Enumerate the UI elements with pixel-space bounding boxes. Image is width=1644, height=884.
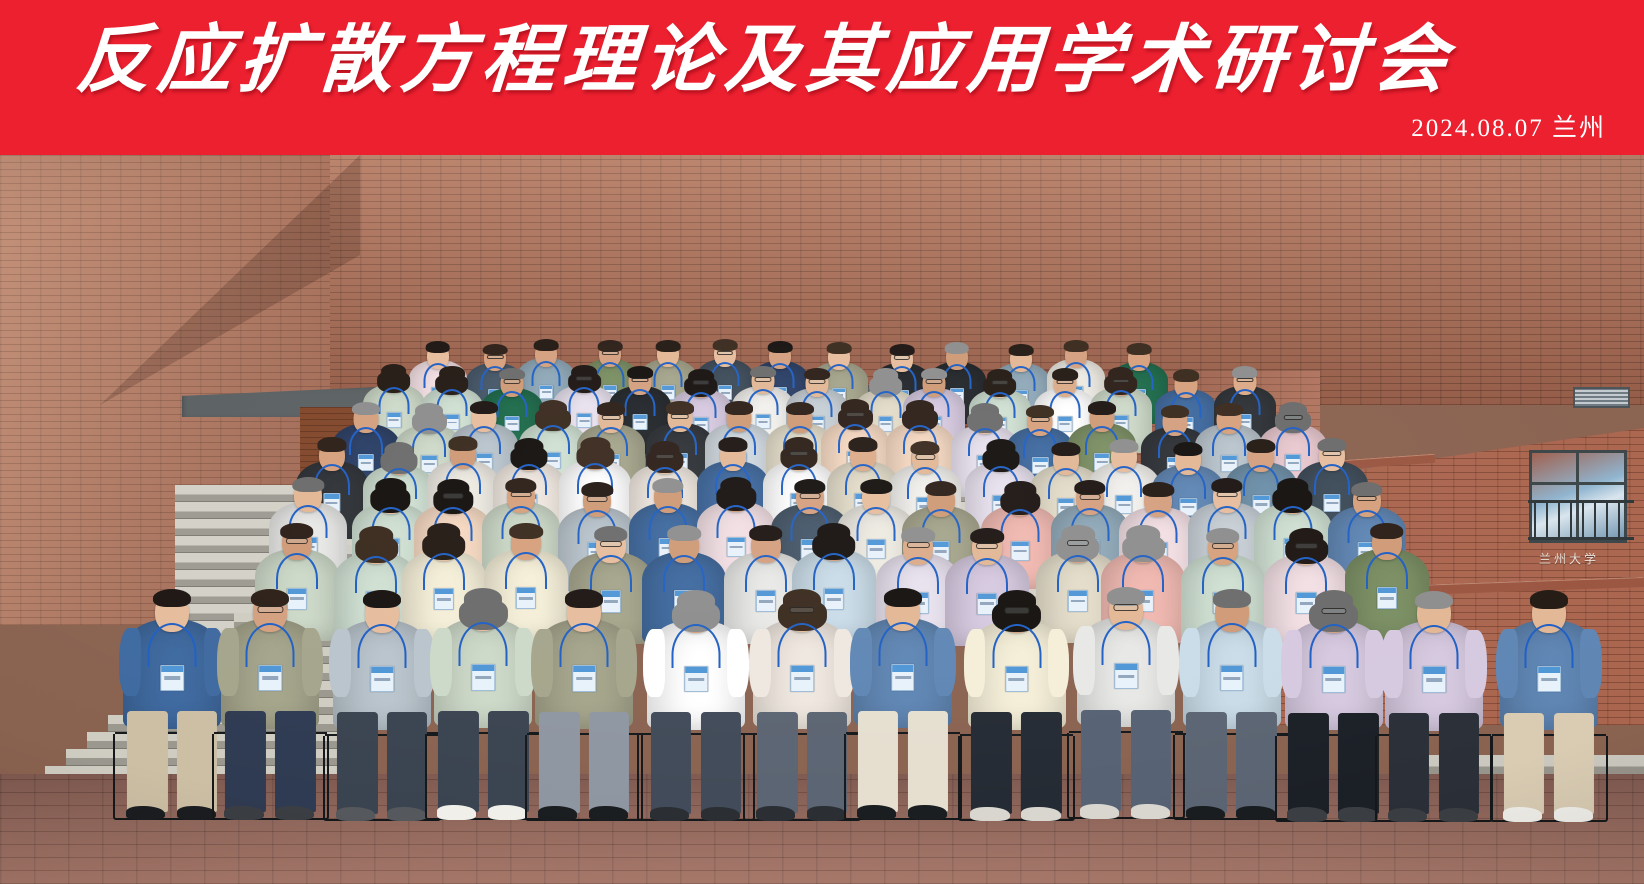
title-banner: 反应扩散方程理论及其应用学术研讨会 2024.08.07 兰州 (0, 0, 1644, 155)
attendee-glasses (800, 493, 821, 499)
attendee-shoe (1236, 806, 1275, 820)
attendee-shoe (387, 807, 426, 821)
attendee-shoe (589, 806, 628, 820)
attendee-hair (470, 401, 498, 414)
attendee-hair (594, 526, 628, 542)
attendee-hair (598, 340, 623, 352)
attendee-hair (750, 366, 776, 378)
attendee (1285, 588, 1383, 848)
attendee-hair (515, 438, 544, 454)
attendee-hair (1005, 481, 1036, 498)
attendee-legs (125, 711, 219, 812)
attendee-leg (337, 712, 377, 813)
attendee-leg (1081, 710, 1121, 811)
attendee-glasses (991, 380, 1008, 385)
attendee-leg (1288, 713, 1328, 814)
attendee-hair (817, 523, 851, 541)
attendee-hair (280, 523, 314, 539)
banner-date-location: 2024.08.07 兰州 (1411, 108, 1606, 144)
attendee-arm (329, 629, 351, 697)
attendee-glasses (1323, 451, 1342, 456)
attendee-glasses (790, 607, 815, 614)
attendee-arm (727, 629, 749, 697)
attendee-hair (1213, 589, 1251, 607)
attendee-hair (1211, 478, 1242, 493)
attendee-shoe (1338, 807, 1377, 821)
attendee-arm (1496, 629, 1518, 697)
attendee-hair (986, 439, 1015, 455)
attendee-hair (1088, 401, 1116, 414)
attendee (1500, 587, 1598, 847)
attendee-glasses (1080, 494, 1101, 500)
attendee-glasses (1212, 543, 1234, 549)
conference-group-photo-poster: 反应扩散方程理论及其应用学术研讨会 2024.08.07 兰州 兰州大学兰州大学… (0, 0, 1644, 884)
attendee-shoe (756, 806, 795, 820)
attendee-name-badge (791, 665, 815, 691)
attendee-name-badge (684, 666, 708, 692)
attendee-hair (652, 478, 683, 493)
attendee-arm (430, 628, 452, 696)
attendee-hair (666, 401, 694, 414)
attendee-leg (1131, 710, 1171, 811)
attendee-arm (531, 629, 553, 697)
attendee-hair (1052, 368, 1078, 380)
attendee-leg (225, 711, 265, 812)
attendee-name-badge (1005, 666, 1029, 692)
attendee-glasses (1067, 540, 1089, 546)
attendee-hair (1064, 340, 1089, 352)
attendee-hair (1351, 482, 1382, 497)
attendee-glasses (926, 379, 943, 384)
attendee-glasses (790, 451, 809, 456)
attendee-glasses (576, 376, 593, 381)
attendee-hair (677, 590, 715, 611)
attendee-legs (649, 712, 743, 813)
attendee-shoe (1021, 807, 1060, 821)
attendee-leg (1504, 713, 1544, 814)
attendee-hair (539, 400, 567, 415)
attendee-hair (627, 366, 653, 378)
attendee-shoe (336, 807, 375, 821)
attendee-hair (804, 368, 830, 380)
attendee-hair (251, 589, 289, 607)
attendee-hair (1074, 480, 1105, 495)
attendee-hair (427, 523, 461, 541)
attendee (647, 587, 745, 847)
attendee-shoe (1131, 804, 1170, 818)
attendee-name-badge (1322, 666, 1346, 692)
attendee-hair (381, 364, 407, 378)
attendee-legs (1079, 710, 1173, 811)
attendee-glasses (1356, 496, 1377, 502)
attendee-glasses (286, 538, 308, 544)
attendee-glasses (894, 355, 910, 359)
attendee-hair (499, 368, 525, 380)
attendee-hair (713, 339, 738, 351)
attendee-glasses (602, 415, 621, 420)
attendee-glasses (1113, 604, 1138, 611)
attendee (123, 586, 221, 846)
attendee-name-badge (472, 664, 496, 690)
attendee-leg (127, 711, 167, 812)
attendee-hair (860, 479, 891, 494)
attendee-arm (749, 629, 771, 697)
attendee-leg (539, 712, 579, 813)
attendee (1077, 584, 1175, 844)
attendee-hair (944, 342, 969, 354)
attendee-hair (768, 341, 793, 353)
attendee-glasses (846, 412, 865, 417)
attendee-shoe (650, 807, 689, 821)
attendee-hair (902, 527, 936, 543)
attendee-legs (755, 712, 849, 813)
attendee-hair (873, 368, 899, 382)
attendee-shoe (1080, 804, 1119, 818)
attendee-glasses (258, 606, 283, 613)
attendee-leg (589, 712, 629, 813)
attendee-name-badge (259, 665, 283, 691)
attendee-arm (643, 629, 665, 697)
attendee-leg (757, 712, 797, 813)
attendee-name-badge (1537, 666, 1561, 692)
group-photograph: 兰州大学兰州大学兰州大学兰州大学兰州大学兰州大学兰州大学兰州大学兰州大学 (0, 155, 1644, 884)
attendee-arm (1157, 626, 1179, 694)
attendee-hair (794, 479, 825, 494)
attendee-glasses (631, 378, 648, 383)
attendee (854, 586, 952, 846)
attendee-hair (720, 477, 751, 494)
attendee-shoe (538, 806, 577, 820)
attendee-leg (438, 711, 478, 812)
attendee-legs (856, 711, 950, 812)
attendee-hair (1026, 405, 1054, 418)
attendee-glasses (916, 454, 935, 459)
attendee-hair (581, 482, 612, 497)
attendee-leg (807, 712, 847, 813)
attendee-arm (1179, 628, 1201, 696)
attendee-glasses (587, 496, 608, 502)
attendee-hair (718, 437, 747, 451)
attendee-shoe (1439, 808, 1478, 822)
attendee-hair (1143, 482, 1174, 497)
attendee-shoe (857, 805, 896, 819)
attendee-glasses (1284, 415, 1303, 420)
attendee-glasses (1056, 380, 1073, 385)
attendee (1385, 588, 1483, 848)
attendee-hair (581, 437, 610, 453)
attendee-arm (302, 628, 324, 696)
attendee-name-badge (573, 665, 597, 691)
attendee-arm (616, 629, 638, 697)
attendee-name-badge (160, 665, 184, 691)
attendee-hair (1530, 590, 1568, 608)
attendee-shoe (1287, 807, 1326, 821)
attendee-hair (786, 402, 814, 415)
attendee-hair (1051, 442, 1080, 456)
attendee-glasses (1031, 417, 1050, 422)
attendee-hair (448, 436, 477, 450)
attendee-shoe (275, 806, 314, 820)
attendee-hair (439, 366, 465, 380)
attendee-shoe (1503, 807, 1542, 821)
attendee-glasses (1321, 608, 1346, 615)
attendee-legs (1502, 713, 1596, 814)
attendee-legs (223, 711, 317, 812)
attendee-shoe (970, 807, 1009, 821)
attendee-hair (375, 478, 406, 495)
attendee-hair (352, 402, 380, 415)
attendee-hair (749, 525, 783, 541)
attendee-hair (1318, 438, 1347, 452)
attendee-glasses (510, 492, 531, 498)
attendee-arm (217, 628, 239, 696)
attendee-hair (509, 523, 543, 539)
attendee-hair (360, 526, 394, 544)
attendee-arm (1073, 626, 1095, 694)
attendee-hair (1110, 439, 1139, 453)
attendee-arm (1381, 630, 1403, 698)
attendee-glasses (504, 379, 521, 384)
attendee-hair (890, 344, 915, 356)
attendee-hair (153, 589, 191, 607)
attendee-shoe (807, 806, 846, 820)
attendee-hair (1161, 405, 1189, 418)
attendee-legs (969, 712, 1063, 813)
attendee-hair (425, 341, 450, 353)
attendee-name-badge (891, 664, 915, 690)
attendee-hair (1127, 343, 1152, 355)
attendee-hair (827, 342, 852, 354)
attendee-leg (1389, 713, 1429, 814)
attendee-glasses (600, 541, 622, 547)
attendee-glasses (1004, 607, 1029, 614)
attendee-arm (1048, 629, 1070, 697)
attendee-hair (317, 437, 346, 451)
banner-title: 反应扩散方程理论及其应用学术研讨会 (0, 18, 1533, 104)
attendee-name-badge (371, 666, 395, 692)
attendee-glasses (1295, 543, 1317, 549)
attendee-glasses (1112, 379, 1129, 384)
attendee-hair (1173, 369, 1199, 381)
attendee-leg (1021, 712, 1061, 813)
attendee-leg (971, 712, 1011, 813)
attendee-glasses (755, 377, 772, 382)
attendee-arm (1465, 630, 1487, 698)
attendee-legs (436, 711, 530, 812)
attendee-arm (119, 628, 141, 696)
attendee-hair (384, 442, 413, 458)
attendee-arm (850, 628, 872, 696)
attendee-glasses (693, 380, 710, 385)
attendee-leg (1439, 713, 1479, 814)
attendee-leg (1338, 713, 1378, 814)
attendee-shoe (1554, 807, 1593, 821)
attendee (753, 587, 851, 847)
attendee-hair (1370, 523, 1404, 539)
attendee-hair (922, 368, 948, 380)
attendee-hair (971, 403, 999, 418)
attendee-leg (1554, 713, 1594, 814)
attendee-crowd (0, 155, 1644, 884)
attendee-shoe (908, 805, 947, 819)
attendee-hair (1247, 439, 1276, 453)
attendee-shoe (437, 805, 476, 819)
attendee-glasses (907, 542, 929, 548)
attendee-hair (906, 400, 934, 415)
attendee-hair (925, 481, 956, 496)
attendee-glasses (1217, 492, 1238, 498)
attendee-shoe (1388, 808, 1427, 822)
attendee-glasses (655, 454, 674, 459)
attendee (333, 587, 431, 847)
attendee-glasses (717, 351, 733, 355)
attendee-hair (1277, 478, 1308, 495)
attendee-leg (387, 712, 427, 813)
attendee-legs (1387, 713, 1481, 814)
attendee-leg (488, 711, 528, 812)
attendee-leg (908, 711, 948, 812)
attendee-legs (1286, 713, 1380, 814)
attendee-glasses (602, 351, 618, 355)
attendee-glasses (976, 543, 998, 549)
attendee-leg (1236, 712, 1276, 813)
attendee-hair (1107, 587, 1145, 605)
attendee-glasses (809, 379, 826, 384)
attendee-hair (565, 589, 603, 607)
attendee (535, 587, 633, 847)
attendee-shoe (177, 806, 216, 820)
attendee-arm (1281, 630, 1303, 698)
attendee-leg (701, 712, 741, 813)
attendee-hair (1174, 442, 1203, 456)
attendee-leg (858, 711, 898, 812)
attendee-leg (1186, 712, 1226, 813)
attendee (221, 586, 319, 846)
attendee-arm (1580, 629, 1602, 697)
attendee-hair (363, 590, 401, 608)
attendee-shoe (224, 806, 263, 820)
attendee-name-badge (1114, 663, 1138, 689)
attendee-hair (293, 477, 324, 492)
attendee-hair (1215, 403, 1243, 416)
attendee-hair (970, 528, 1004, 544)
attendee-legs (537, 712, 631, 813)
attendee-name-badge (1422, 666, 1446, 692)
attendee-glasses (443, 493, 464, 499)
attendee-hair (415, 403, 443, 418)
attendee-shoe (126, 806, 165, 820)
attendee-legs (335, 712, 429, 813)
attendee (968, 587, 1066, 847)
attendee-hair (464, 588, 502, 609)
attendee-hair (1206, 528, 1240, 544)
attendee-hair (656, 340, 681, 352)
attendee-name-badge (1220, 665, 1244, 691)
attendee-arm (964, 629, 986, 697)
attendee-hair (1009, 344, 1034, 356)
attendee (1183, 586, 1281, 846)
attendee-shoe (488, 805, 527, 819)
attendee-hair (725, 401, 753, 414)
attendee-hair (884, 588, 922, 606)
attendee-hair (1127, 525, 1161, 543)
attendee-hair (534, 339, 559, 351)
attendee-hair (1232, 366, 1258, 378)
attendee-leg (275, 711, 315, 812)
attendee-hair (505, 478, 536, 493)
attendee-hair (667, 525, 701, 541)
attendee-leg (651, 712, 691, 813)
attendee-shoe (1186, 806, 1225, 820)
attendee-hair (849, 437, 878, 451)
attendee-hair (1415, 591, 1453, 609)
attendee-glasses (1236, 378, 1253, 383)
attendee-shoe (701, 807, 740, 821)
attendee-hair (911, 441, 940, 455)
attendee-hair (483, 344, 508, 356)
attendee (434, 586, 532, 846)
attendee-glasses (670, 414, 689, 419)
attendee-glasses (487, 355, 503, 359)
attendee-hair (597, 402, 625, 415)
attendee-legs (1185, 712, 1279, 813)
attendee-arm (934, 628, 956, 696)
